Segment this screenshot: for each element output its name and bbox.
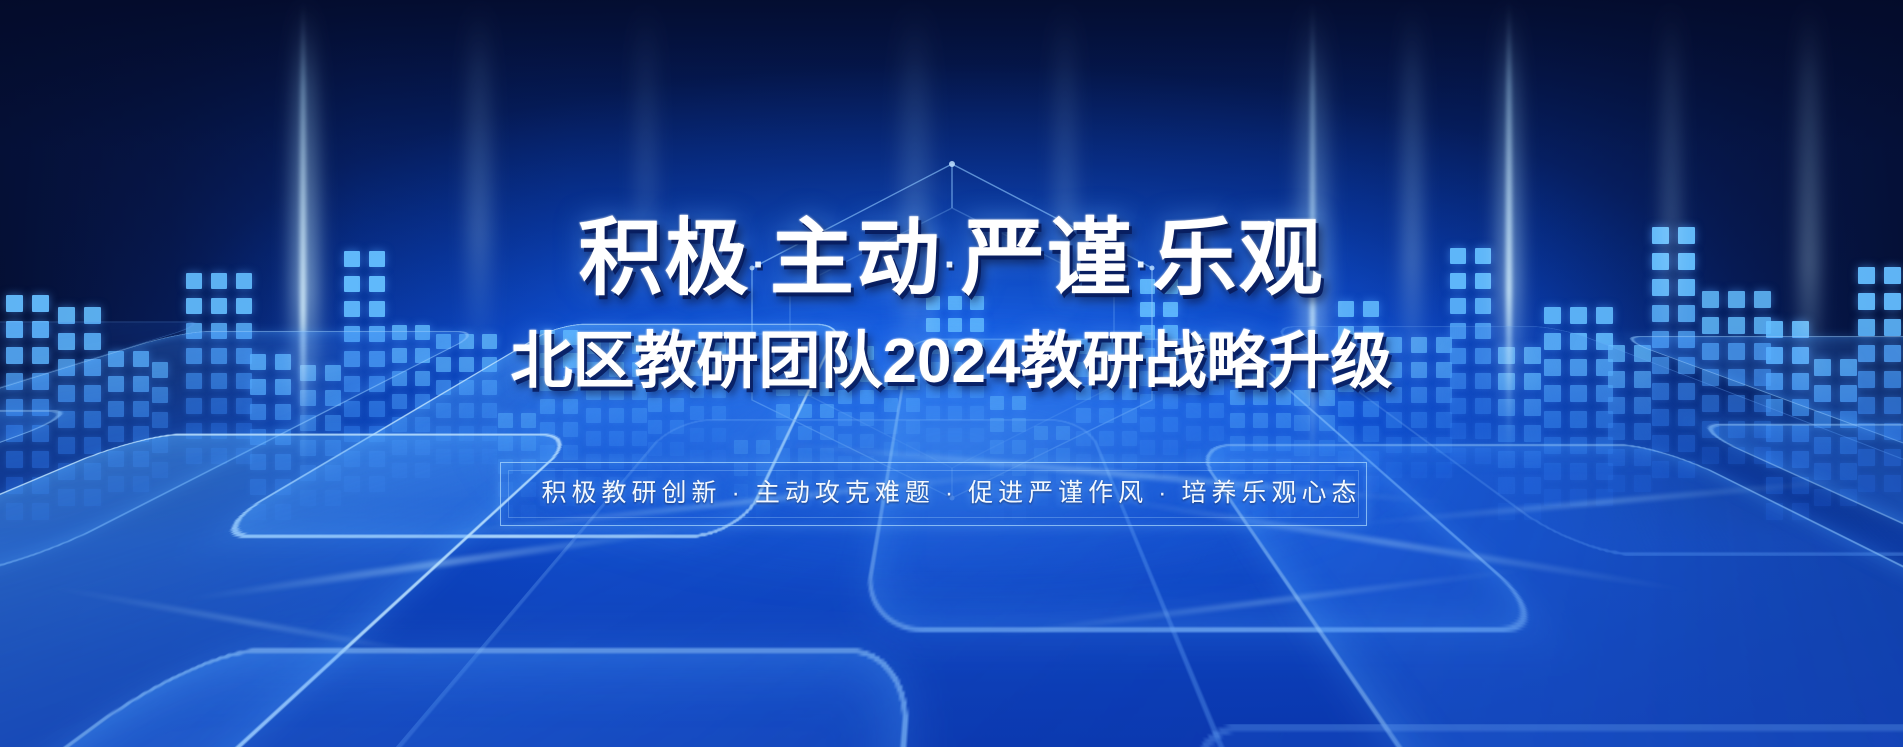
banner-headline: 积极·主动·严谨·乐观 — [0, 216, 1903, 300]
tagline-separator-3: · — [1158, 479, 1171, 507]
banner-content: 积极·主动·严谨·乐观 北区教研团队2024教研战略升级 积极教研创新·主动攻克… — [0, 0, 1903, 747]
headline-separator-1: · — [752, 243, 767, 287]
banner-tagline: 积极教研创新·主动攻克难题·促进严谨作风·培养乐观心态 — [0, 474, 1903, 512]
tagline-item-1: 积极教研创新 — [541, 479, 721, 507]
tagline-separator-1: · — [731, 479, 744, 507]
headline-word-4: 乐观 — [1153, 211, 1325, 305]
headline-word-3: 严谨 — [961, 211, 1133, 305]
headline-separator-3: · — [1135, 243, 1150, 287]
headline-word-1: 积极 — [578, 211, 750, 305]
tagline-item-4: 培养乐观心态 — [1182, 479, 1362, 507]
tagline-item-3: 促进严谨作风 — [968, 479, 1148, 507]
headline-separator-2: · — [944, 243, 959, 287]
tagline-item-2: 主动攻克难题 — [755, 479, 935, 507]
banner-subtitle: 北区教研团队2024教研战略升级 — [0, 331, 1903, 393]
tagline-separator-2: · — [945, 479, 958, 507]
headline-word-2: 主动 — [770, 211, 942, 305]
tech-conference-banner: 积极·主动·严谨·乐观 北区教研团队2024教研战略升级 积极教研创新·主动攻克… — [0, 0, 1903, 747]
